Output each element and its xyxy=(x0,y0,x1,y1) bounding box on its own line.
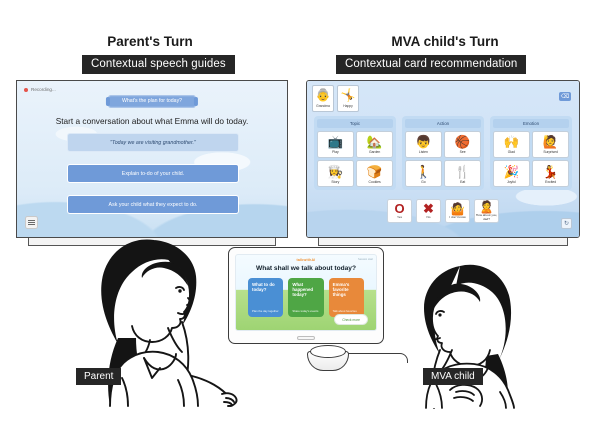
tablet-topic-cards: What to do today? Plan the day together … xyxy=(248,278,364,317)
left-section-chip: Contextual speech guides xyxy=(82,55,235,74)
recording-dot xyxy=(24,88,28,92)
listen-icon: 👦 xyxy=(416,134,432,150)
prompt-bubble: What's the plan for today? xyxy=(108,95,196,108)
refresh-icon[interactable]: ↻ xyxy=(561,218,572,229)
recording-indicator: Recording... xyxy=(24,87,56,92)
hamburger-menu-icon[interactable] xyxy=(25,216,38,229)
card-surprised[interactable]: 🙋 Surprised xyxy=(532,131,569,158)
speaker-device xyxy=(307,345,349,373)
selected-card-grandma[interactable]: 👵 Grandma xyxy=(312,85,334,112)
category-header: Action xyxy=(405,119,481,128)
tablet-card-title: Emma's favorite things xyxy=(333,282,360,297)
quick-reply-row: O Yes ✖ No 🤷 I don't know 🙎 How about yo… xyxy=(307,199,579,223)
card-label: See xyxy=(460,150,466,154)
excited-icon: 💃 xyxy=(543,164,559,180)
card-story[interactable]: 👩‍🍳 Story xyxy=(317,160,354,187)
selected-card-happy[interactable]: 🤸 Happy xyxy=(337,85,359,112)
card-joyful[interactable]: 🎉 Joyful xyxy=(493,160,530,187)
right-section-title: MVA child's Turn xyxy=(330,34,560,49)
walk-icon: 🚶 xyxy=(416,164,432,180)
card-label: Go xyxy=(421,180,426,184)
tv-icon: 📺 xyxy=(328,134,344,150)
parent-name-chip: Parent xyxy=(76,368,121,385)
tablet-device: talkwithAI Session start What shall we t… xyxy=(228,247,384,344)
circle-icon: O xyxy=(394,202,404,216)
category-header: Emotion xyxy=(493,119,569,128)
card-see[interactable]: 🏀 See xyxy=(444,131,481,158)
tablet-card-sub: Share today's events xyxy=(292,309,318,313)
category-action: Action 👦 Listen 🏀 See 🚶 Go xyxy=(402,116,484,190)
child-screen: 👵 Grandma 🤸 Happy ⌫ Topic 📺 Play xyxy=(306,80,580,238)
shrug-icon: 🤷 xyxy=(450,202,465,216)
card-excited[interactable]: 💃 Excited xyxy=(532,160,569,187)
child-name-chip: MVA child xyxy=(423,368,483,385)
tablet-card-sub: Talk about favorites xyxy=(333,309,357,313)
card-label: Joyful xyxy=(507,180,516,184)
tablet-home-button[interactable] xyxy=(297,336,315,341)
card-yes[interactable]: O Yes xyxy=(387,199,412,223)
selected-card-label: Grandma xyxy=(316,104,330,108)
category-emotion: Emotion 🙌 Glad 🙋 Surprised 🎉 Joyful xyxy=(490,116,572,190)
card-label: Excited xyxy=(545,180,556,184)
card-label: How about you, dad? xyxy=(475,214,498,221)
cookies-icon: 🍞 xyxy=(367,164,383,180)
parent-screen: Recording... What's the plan for today? … xyxy=(16,80,288,238)
category-card-grid: 📺 Play 🏡 Garden 👩‍🍳 Story 🍞 Cookies xyxy=(317,131,393,188)
card-label: Glad xyxy=(508,150,515,154)
card-label: Play xyxy=(332,150,339,154)
tablet-question: What shall we talk about today? xyxy=(236,265,376,272)
card-label: Eat xyxy=(460,180,465,184)
tablet-card-favorite-things[interactable]: Emma's favorite things Talk about favori… xyxy=(329,278,364,317)
tablet-card-title: What to do today? xyxy=(252,282,279,292)
card-label: Listen xyxy=(419,150,428,154)
backspace-icon[interactable]: ⌫ xyxy=(559,92,571,101)
ball-icon: 🏀 xyxy=(455,134,471,150)
category-columns: Topic 📺 Play 🏡 Garden 👩‍🍳 Story xyxy=(314,116,572,190)
speech-suggestion-1[interactable]: "Today we are visiting grandmother." xyxy=(67,133,239,152)
category-card-grid: 🙌 Glad 🙋 Surprised 🎉 Joyful 💃 Excited xyxy=(493,131,569,188)
child-illustration xyxy=(398,250,548,410)
happy-icon: 🤸 xyxy=(341,88,356,103)
tablet-card-title: What happened today? xyxy=(292,282,319,297)
card-i-dont-know[interactable]: 🤷 I don't know xyxy=(445,199,470,223)
card-listen[interactable]: 👦 Listen xyxy=(405,131,442,158)
card-glad[interactable]: 🙌 Glad xyxy=(493,131,530,158)
card-label: Garden xyxy=(369,150,380,154)
card-label: Surprised xyxy=(543,150,558,154)
card-play[interactable]: 📺 Play xyxy=(317,131,354,158)
tablet-card-sub: Plan the day together xyxy=(252,309,279,313)
cross-icon: ✖ xyxy=(423,202,434,216)
tablet-screen: talkwithAI Session start What shall we t… xyxy=(235,254,377,331)
figure-canvas: Parent's Turn Contextual speech guides R… xyxy=(0,0,600,431)
instruction-text: Start a conversation about what Emma wil… xyxy=(17,116,287,126)
tablet-meta: Session start xyxy=(358,258,373,261)
selected-card-label: Happy xyxy=(343,104,353,108)
app-logo: talkwithAI xyxy=(236,258,376,262)
speech-suggestion-3[interactable]: Ask your child what they expect to do. xyxy=(67,195,239,214)
card-garden[interactable]: 🏡 Garden xyxy=(356,131,393,158)
joyful-icon: 🎉 xyxy=(504,164,520,180)
card-how-about-you-dad[interactable]: 🙎 How about you, dad? xyxy=(474,199,499,223)
speaker-top xyxy=(310,345,346,358)
card-label: Story xyxy=(331,180,339,184)
category-card-grid: 👦 Listen 🏀 See 🚶 Go 🍴 Eat xyxy=(405,131,481,188)
question-person-icon: 🙎 xyxy=(479,200,494,214)
tablet-card-what-to-do[interactable]: What to do today? Plan the day together xyxy=(248,278,283,317)
card-label: No xyxy=(427,216,431,220)
eat-icon: 🍴 xyxy=(455,164,471,180)
card-eat[interactable]: 🍴 Eat xyxy=(444,160,481,187)
story-icon: 👩‍🍳 xyxy=(328,164,344,180)
category-topic: Topic 📺 Play 🏡 Garden 👩‍🍳 Story xyxy=(314,116,396,190)
card-go[interactable]: 🚶 Go xyxy=(405,160,442,187)
glad-icon: 🙌 xyxy=(504,134,520,150)
recording-label: Recording... xyxy=(31,87,56,92)
card-cookies[interactable]: 🍞 Cookies xyxy=(356,160,393,187)
house-icon: 🏡 xyxy=(367,134,383,150)
right-section-chip: Contextual card recommendation xyxy=(336,55,526,74)
category-header: Topic xyxy=(317,119,393,128)
speech-suggestion-2[interactable]: Explain to-do of your child. xyxy=(67,164,239,183)
left-section-title: Parent's Turn xyxy=(40,34,260,49)
card-label: I don't know xyxy=(449,216,465,220)
card-label: Yes xyxy=(397,216,402,220)
selected-card-strip: 👵 Grandma 🤸 Happy xyxy=(312,85,359,112)
check-more-button[interactable]: Check more xyxy=(334,314,368,325)
card-label: Cookies xyxy=(369,180,381,184)
tablet-card-what-happened[interactable]: What happened today? Share today's event… xyxy=(288,278,323,317)
grandma-icon: 👵 xyxy=(316,88,331,103)
surprised-icon: 🙋 xyxy=(543,134,559,150)
card-no[interactable]: ✖ No xyxy=(416,199,441,223)
